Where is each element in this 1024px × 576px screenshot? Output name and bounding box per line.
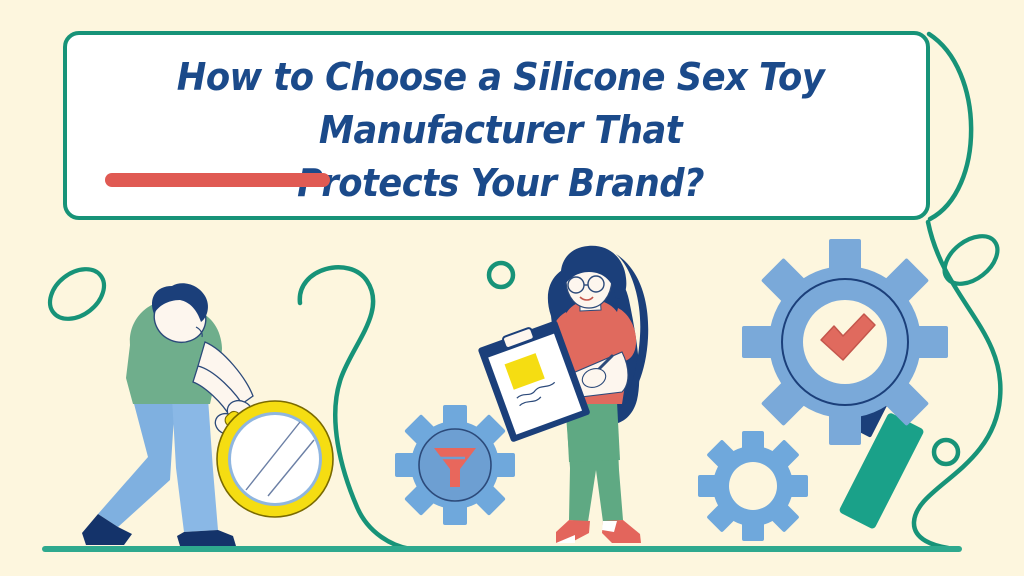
- ground-line: [42, 546, 962, 552]
- red-accent-underline: [105, 173, 330, 187]
- illustration-canvas: How to Choose a Silicone Sex Toy Manufac…: [0, 0, 1024, 576]
- title-card: How to Choose a Silicone Sex Toy Manufac…: [63, 31, 930, 220]
- small-gear: [698, 431, 808, 541]
- gear-with-funnel-icon: [395, 405, 515, 525]
